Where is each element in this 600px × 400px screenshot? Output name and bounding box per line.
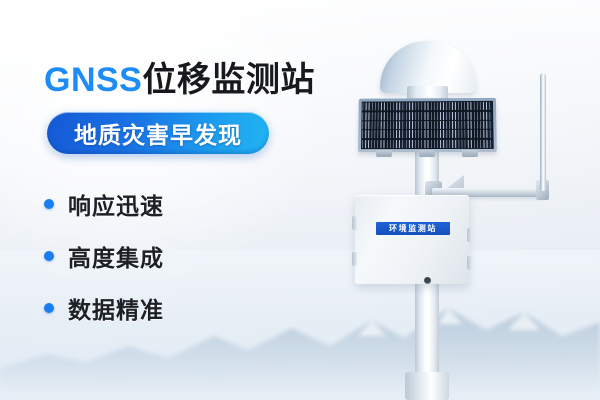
enclosure-label: 环境监测站 (389, 223, 437, 234)
solar-cell (406, 130, 448, 138)
solar-cell (406, 112, 448, 120)
solar-cell (406, 140, 448, 148)
enclosure-latch (467, 228, 472, 242)
panel-leg (376, 150, 392, 157)
solar-cell (363, 103, 405, 111)
list-item: 数据精准 (44, 282, 164, 334)
solar-cell (362, 140, 404, 148)
solar-panel-legs (372, 150, 482, 157)
solar-cell (363, 112, 405, 120)
solar-cell (450, 139, 493, 147)
feature-list: 响应迅速 高度集成 数据精准 (44, 178, 164, 334)
feature-label: 数据精准 (68, 291, 164, 325)
list-item: 响应迅速 (44, 178, 164, 230)
feature-label: 响应迅速 (68, 187, 164, 221)
bullet-dot-icon (44, 199, 54, 209)
enclosure-hinge (352, 252, 357, 266)
whip-antenna-icon (540, 73, 546, 191)
solar-cell (363, 121, 405, 129)
solar-cell (406, 103, 448, 111)
enclosure-nameplate: 环境监测站 (376, 222, 450, 235)
cable-port-icon (424, 277, 431, 284)
solar-cell (449, 121, 492, 129)
page-title-rest: 位移监测站 (142, 61, 315, 99)
solar-cell (449, 112, 491, 120)
panel-leg (462, 150, 478, 157)
enclosure-latch (467, 256, 472, 270)
solar-cell (363, 130, 405, 138)
page-title: GNSS位移监测站 (44, 52, 315, 101)
solar-cell (449, 102, 491, 110)
pole-base (405, 372, 449, 400)
solar-cell (450, 130, 493, 138)
tagline-badge: 地质灾害早发现 (47, 112, 269, 154)
panel-leg (419, 150, 435, 157)
promo-banner: 环境监测站 GNSS位移监测站 地质灾害早发现 响应迅速 高度集成 数据精准 (0, 0, 600, 400)
enclosure-hinge (352, 216, 357, 230)
bullet-dot-icon (44, 251, 54, 261)
solar-cell (406, 121, 448, 129)
bullet-dot-icon (44, 303, 54, 313)
solar-panel (358, 98, 497, 152)
solar-cell-grid (361, 101, 494, 149)
equipment-enclosure (355, 195, 469, 284)
tagline-badge-label: 地质灾害早发现 (74, 116, 242, 150)
list-item: 高度集成 (44, 230, 164, 282)
feature-label: 高度集成 (68, 239, 164, 273)
page-title-accent: GNSS (44, 61, 142, 99)
